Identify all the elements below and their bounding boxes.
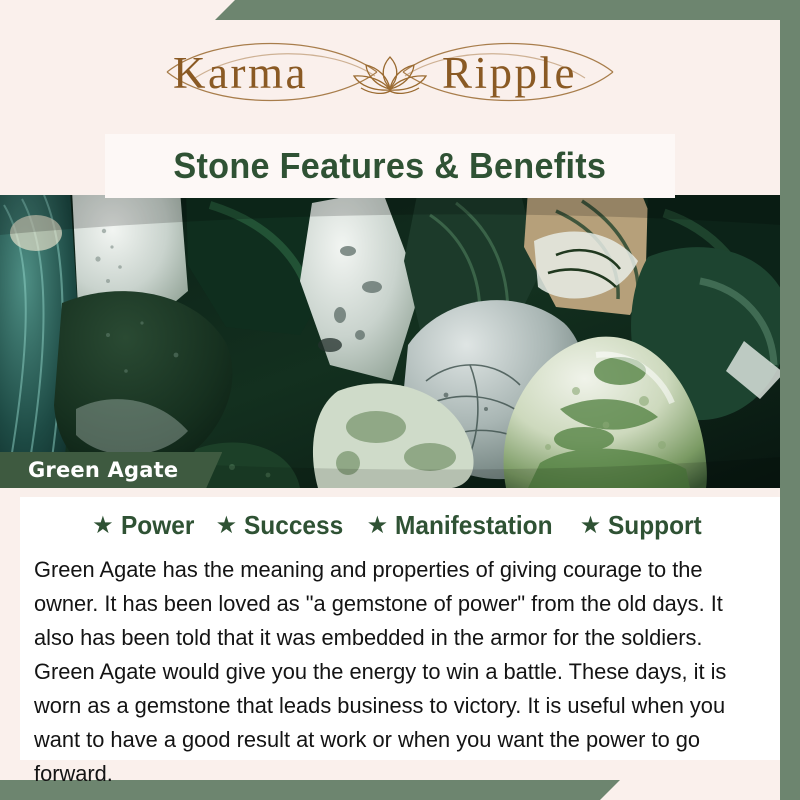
stone-description-card: ★ Power ★ Success ★ Manifestation ★ Supp… <box>20 497 780 760</box>
feature-item-power: ★ Power <box>92 510 199 541</box>
brand-logo-artwork: Karma Ripple <box>155 26 625 122</box>
star-icon: ★ <box>92 514 114 538</box>
star-icon: ★ <box>367 514 389 538</box>
photo-artwork <box>0 195 780 488</box>
brand-name-right: Ripple <box>442 48 577 98</box>
lotus-icon <box>354 57 426 93</box>
feature-keyword-list: ★ Power ★ Success ★ Manifestation ★ Supp… <box>20 510 780 541</box>
feature-label-manifestation: Manifestation <box>395 510 553 541</box>
decorative-band-right <box>780 0 800 800</box>
stone-name-tag: Green Agate <box>0 452 222 488</box>
stone-description-text: Green Agate has the meaning and properti… <box>34 553 752 791</box>
stone-name-label: Green Agate <box>28 458 178 482</box>
stone-info-poster: Karma Ripple Stone Features & Benefits <box>0 0 800 800</box>
star-icon: ★ <box>580 514 602 538</box>
page-title: Stone Features & Benefits <box>174 145 607 187</box>
feature-label-success: Success <box>244 510 343 541</box>
feature-label-power: Power <box>121 510 194 541</box>
decorative-band-top <box>215 0 800 20</box>
feature-label-support: Support <box>608 510 702 541</box>
green-agate-stones-photo <box>0 195 780 488</box>
brand-logo: Karma Ripple <box>0 24 780 124</box>
feature-item-support: ★ Support <box>580 510 708 541</box>
photo-card-divider <box>20 488 778 497</box>
feature-item-success: ★ Success <box>216 510 350 541</box>
page-title-band: Stone Features & Benefits <box>105 134 675 198</box>
brand-name-left: Karma <box>173 48 308 98</box>
star-icon: ★ <box>216 514 238 538</box>
feature-item-manifestation: ★ Manifestation <box>367 510 563 541</box>
